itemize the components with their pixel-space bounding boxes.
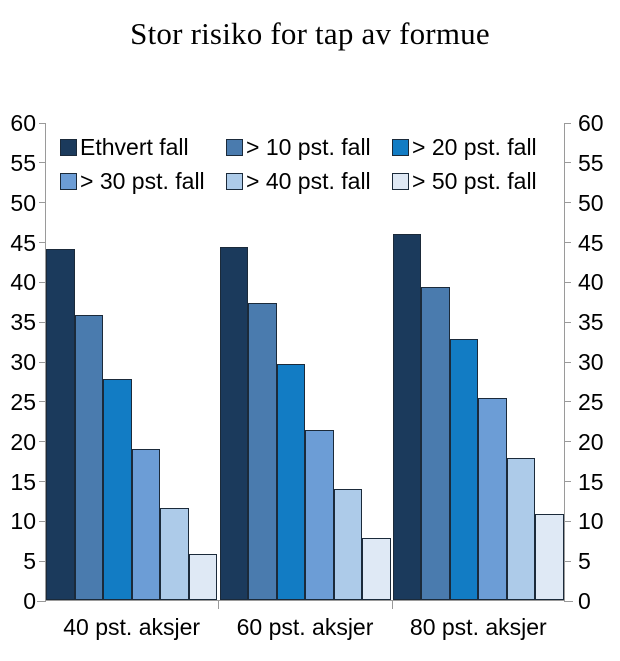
y-tick-label-right: 10 [578, 510, 604, 533]
x-axis-category-label: 40 pst. aksjer [45, 614, 218, 641]
legend-item[interactable]: > 40 pst. fall [226, 170, 371, 193]
y-tick-right [565, 322, 571, 323]
y-tick-left [39, 322, 45, 323]
bar [478, 398, 507, 600]
bar [362, 538, 391, 600]
y-tick-left [39, 162, 45, 163]
legend-swatch-icon [60, 173, 77, 190]
chart-page: Stor risiko for tap av formue 0510152025… [0, 0, 620, 661]
legend-item[interactable]: > 20 pst. fall [392, 136, 537, 159]
y-tick-right [565, 481, 571, 482]
y-tick-label-right: 20 [578, 431, 604, 454]
y-tick-right [564, 601, 573, 602]
y-tick-label-left: 30 [10, 351, 36, 374]
y-tick-left [39, 362, 45, 363]
bar [160, 508, 189, 600]
legend-label: > 50 pst. fall [412, 170, 537, 193]
page-title: Stor risiko for tap av formue [0, 16, 620, 52]
y-tick-left [39, 242, 45, 243]
bar [75, 315, 104, 600]
legend-swatch-icon [392, 139, 409, 156]
y-tick-left [39, 441, 45, 442]
y-tick-left [39, 202, 45, 203]
y-tick-right [565, 521, 571, 522]
y-tick-right [565, 362, 571, 363]
legend-row: Ethvert fall> 10 pst. fall> 20 pst. fall [60, 130, 570, 164]
y-tick-label-left: 55 [10, 152, 36, 175]
bar [248, 303, 277, 600]
y-tick-label-left: 5 [23, 550, 36, 573]
y-tick-left [39, 282, 45, 283]
bar [46, 249, 75, 600]
y-tick-label-right: 35 [578, 311, 604, 334]
legend-swatch-icon [392, 173, 409, 190]
y-tick-right [565, 561, 571, 562]
y-tick-label-left: 40 [10, 271, 36, 294]
y-tick-label-right: 25 [578, 391, 604, 414]
y-tick-label-left: 45 [10, 232, 36, 255]
y-tick-left [39, 521, 45, 522]
bar [305, 430, 334, 600]
y-tick-label-left: 10 [10, 510, 36, 533]
y-tick-left [39, 123, 45, 124]
legend-label: > 10 pst. fall [246, 136, 371, 159]
legend-item[interactable]: > 10 pst. fall [226, 136, 371, 159]
legend: Ethvert fall> 10 pst. fall> 20 pst. fall… [60, 130, 570, 198]
bar [220, 247, 249, 600]
legend-swatch-icon [226, 139, 243, 156]
legend-label: > 40 pst. fall [246, 170, 371, 193]
y-tick-label-right: 60 [578, 112, 604, 135]
legend-swatch-icon [226, 173, 243, 190]
y-tick-right [565, 441, 571, 442]
x-axis-category-label: 60 pst. aksjer [218, 614, 391, 641]
bar [334, 489, 363, 600]
category-separator-tick [218, 600, 219, 609]
x-axis-line [45, 600, 565, 601]
y-tick-right [565, 242, 571, 243]
y-tick-label-right: 15 [578, 471, 604, 494]
bar [507, 458, 536, 600]
legend-label: > 20 pst. fall [412, 136, 537, 159]
y-tick-label-left: 15 [10, 471, 36, 494]
legend-item[interactable]: Ethvert fall [60, 136, 189, 159]
y-tick-label-right: 45 [578, 232, 604, 255]
y-tick-label-right: 50 [578, 192, 604, 215]
y-tick-label-right: 55 [578, 152, 604, 175]
bar [535, 514, 564, 600]
y-tick-label-right: 30 [578, 351, 604, 374]
y-tick-label-left: 0 [23, 590, 36, 613]
y-tick-label-right: 40 [578, 271, 604, 294]
legend-item[interactable]: > 50 pst. fall [392, 170, 537, 193]
bar [132, 449, 161, 600]
bar [393, 234, 422, 600]
legend-swatch-icon [60, 139, 77, 156]
y-tick-left [39, 401, 45, 402]
y-tick-right [565, 202, 571, 203]
y-tick-label-left: 20 [10, 431, 36, 454]
bar [103, 379, 132, 600]
y-tick-label-left: 35 [10, 311, 36, 334]
bar [421, 287, 450, 600]
y-tick-right [565, 123, 571, 124]
legend-label: Ethvert fall [80, 136, 189, 159]
y-tick-label-right: 0 [578, 590, 591, 613]
y-tick-label-right: 5 [578, 550, 591, 573]
category-separator-tick [392, 600, 393, 609]
y-tick-left [39, 561, 45, 562]
y-tick-left [37, 601, 46, 602]
y-tick-label-left: 50 [10, 192, 36, 215]
y-tick-label-left: 25 [10, 391, 36, 414]
bar [450, 339, 479, 600]
legend-row: > 30 pst. fall> 40 pst. fall> 50 pst. fa… [60, 164, 570, 198]
y-tick-right [565, 401, 571, 402]
y-tick-right [565, 282, 571, 283]
y-tick-left [39, 481, 45, 482]
x-axis-category-label: 80 pst. aksjer [392, 614, 565, 641]
bar [277, 364, 306, 600]
legend-item[interactable]: > 30 pst. fall [60, 170, 205, 193]
y-tick-label-left: 60 [10, 112, 36, 135]
legend-label: > 30 pst. fall [80, 170, 205, 193]
bar [189, 554, 218, 600]
